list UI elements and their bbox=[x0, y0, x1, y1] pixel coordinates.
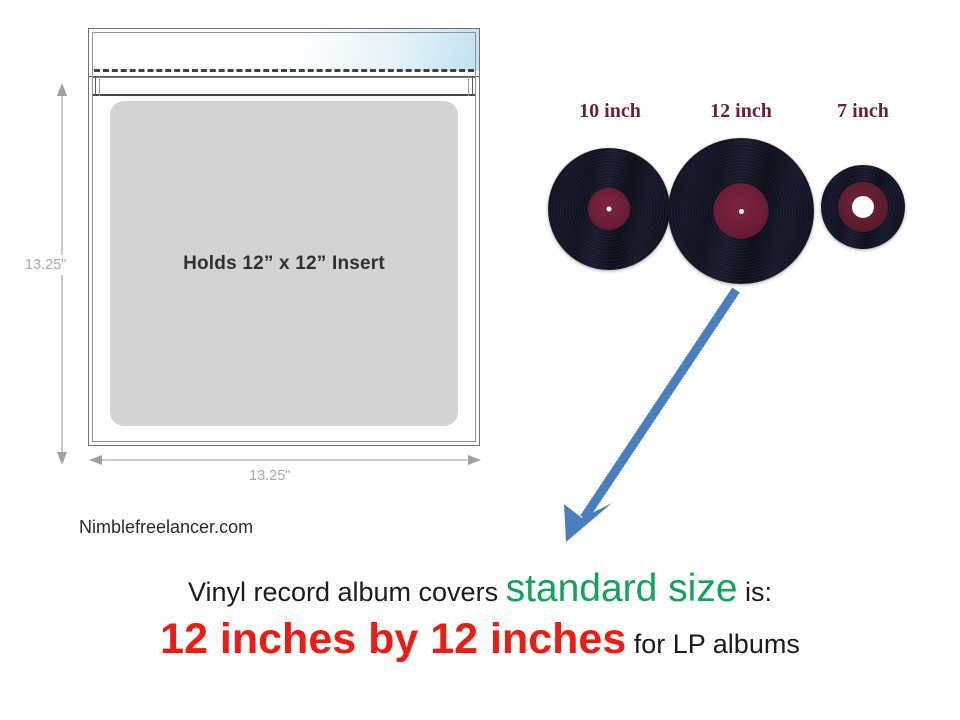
caption-line1-highlight: standard size bbox=[506, 567, 738, 610]
caption-line2-tail: for LP albums bbox=[626, 629, 800, 659]
blue-pointer-arrow bbox=[540, 278, 770, 546]
record-10-inch-caption: 10 inch bbox=[540, 100, 680, 123]
spindle-hole-12-inch bbox=[739, 209, 744, 214]
record-12-inch: 12 inch bbox=[666, 100, 816, 292]
spindle-hole-7-inch bbox=[852, 196, 874, 218]
sleeve-seal-tab-right bbox=[468, 76, 473, 96]
record-7-inch-caption: 7 inch bbox=[808, 100, 918, 123]
caption-line1-suffix: is: bbox=[738, 577, 773, 607]
infographic-canvas: Holds 12” x 12” Insert 13.25" 13.25" 10 … bbox=[0, 0, 960, 720]
width-dimension-label: 13.25" bbox=[249, 468, 290, 484]
vinyl-center-label-12-inch bbox=[714, 184, 769, 239]
vinyl-center-label-10-inch bbox=[588, 188, 630, 230]
record-12-inch-caption: 12 inch bbox=[666, 100, 816, 123]
caption-block: Vinyl record album covers standard size … bbox=[0, 566, 960, 665]
vinyl-disc-10-inch bbox=[548, 148, 670, 270]
caption-line-1: Vinyl record album covers standard size … bbox=[0, 566, 960, 611]
sleeve-insert-area: Holds 12” x 12” Insert bbox=[110, 101, 458, 426]
vinyl-center-label-7-inch bbox=[838, 182, 888, 232]
record-7-inch: 7 inch bbox=[808, 100, 918, 270]
vinyl-disc-12-inch bbox=[668, 138, 814, 284]
sleeve-zip-seal-dashes bbox=[94, 69, 474, 72]
caption-line1-prefix: Vinyl record album covers bbox=[188, 577, 506, 607]
caption-line-2: 12 inches by 12 inches for LP albums bbox=[0, 615, 960, 665]
sleeve-seal-tab-left bbox=[95, 76, 100, 96]
height-dimension-label: 13.25" bbox=[22, 255, 69, 275]
vinyl-sleeve-diagram: Holds 12” x 12” Insert bbox=[88, 28, 480, 446]
record-10-inch: 10 inch bbox=[540, 100, 680, 280]
sleeve-seal-band bbox=[92, 77, 476, 96]
vinyl-disc-7-inch bbox=[821, 165, 905, 249]
site-watermark: Nimblefreelancer.com bbox=[79, 517, 253, 538]
sleeve-flap-tint bbox=[89, 29, 479, 71]
caption-line2-highlight: 12 inches by 12 inches bbox=[160, 615, 626, 663]
insert-capacity-label: Holds 12” x 12” Insert bbox=[183, 253, 385, 275]
spindle-hole-10-inch bbox=[607, 207, 612, 212]
